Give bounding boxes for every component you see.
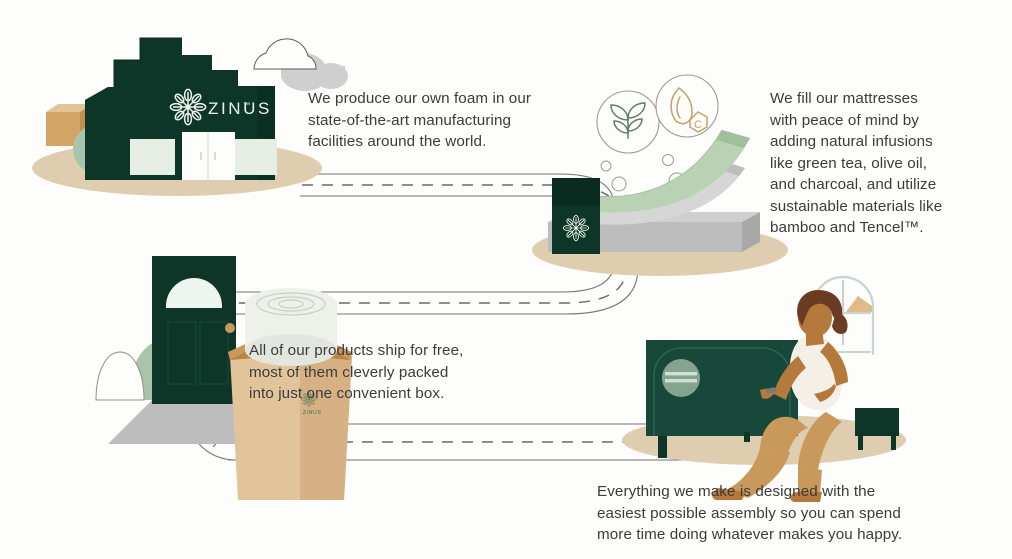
scene-factory: ZINUS ™: [32, 38, 348, 196]
bush-outline-icon: [96, 352, 144, 400]
svg-text:ZINUS: ZINUS: [303, 410, 322, 416]
factory-window-left: [130, 139, 175, 175]
scene-mattress: C: [532, 75, 788, 276]
factory-window-right: [232, 139, 277, 175]
zinus-process-infographic: ZINUS ™: [0, 0, 1012, 559]
svg-text:™: ™: [243, 102, 250, 109]
charcoal-badge: C: [656, 75, 718, 137]
factory-sign-label: ZINUS: [208, 99, 272, 118]
caption-materials: We fill our mattresses with peace of min…: [770, 88, 1002, 239]
cloud-outline-icon: [254, 39, 316, 69]
doorknob-icon[interactable]: [225, 323, 235, 333]
caption-manufacturing: We produce our own foam in our state-of-…: [308, 88, 566, 153]
caption-shipping: All of our products ship for free, most …: [249, 340, 499, 405]
scene-bedroom: [622, 277, 906, 502]
zinus-botanical-mark-icon: [170, 89, 205, 124]
caption-assembly: Everything we make is designed with the …: [597, 481, 947, 546]
illustration-canvas: ZINUS ™: [0, 0, 1012, 559]
green-tea-badge: [597, 91, 659, 153]
svg-text:C: C: [694, 119, 702, 131]
zinus-botanical-mark-icon: [563, 215, 588, 240]
assembly-badge: [662, 359, 700, 397]
